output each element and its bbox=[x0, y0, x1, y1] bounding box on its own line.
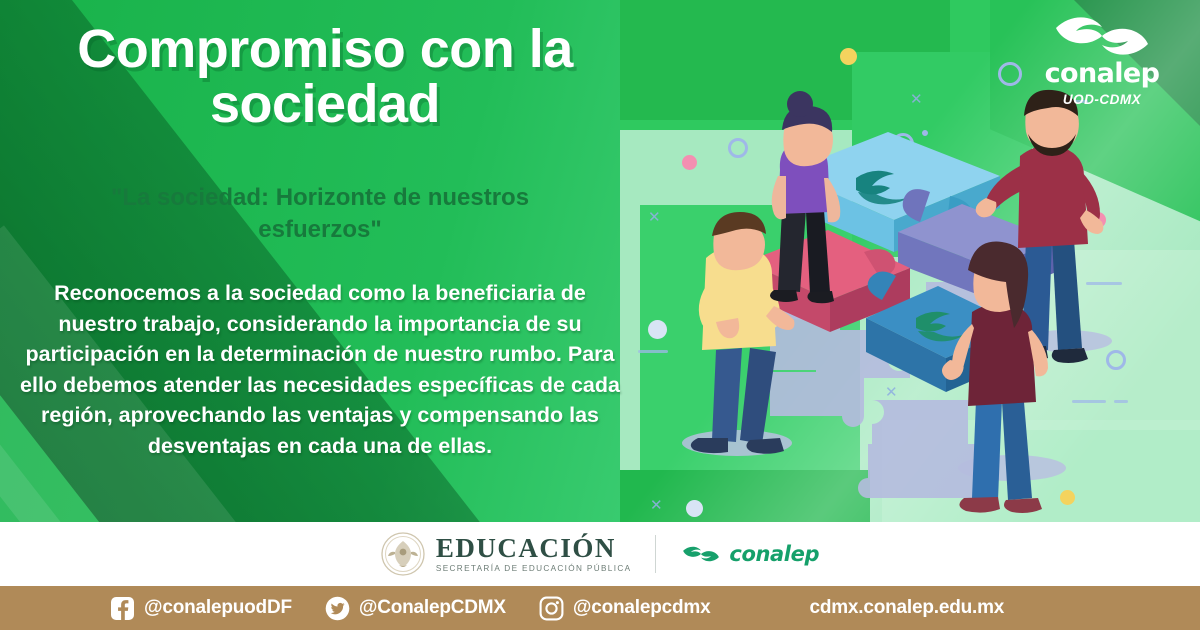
social-links: @conalepuodDF @ConalepCDMX @conalepcdmx … bbox=[110, 596, 1004, 621]
website-url[interactable]: cdmx.conalep.edu.mx bbox=[809, 597, 1004, 619]
twitter-icon[interactable] bbox=[325, 596, 350, 621]
page-body-text: Reconocemos a la sociedad como la benefi… bbox=[18, 278, 622, 461]
facebook-handle[interactable]: @conalepuodDF bbox=[144, 597, 292, 619]
social-footer-bar: @conalepuodDF @ConalepCDMX @conalepcdmx … bbox=[0, 586, 1200, 630]
social-item-twitter[interactable]: @ConalepCDMX bbox=[325, 596, 506, 621]
page-title: Compromiso con la sociedad bbox=[30, 22, 620, 132]
sep-lockup: EDUCACIÓN SECRETARÍA DE EDUCACIÓN PÚBLIC… bbox=[381, 532, 631, 576]
social-item-instagram[interactable]: @conalepcdmx bbox=[539, 596, 711, 621]
instagram-handle[interactable]: @conalepcdmx bbox=[573, 597, 711, 619]
poster-background: ✕ ✕ ✕ ✕ bbox=[0, 0, 1200, 522]
ministry-subtitle: SECRETARÍA DE EDUCACIÓN PÚBLICA bbox=[436, 565, 631, 573]
social-item-facebook[interactable]: @conalepuodDF bbox=[110, 596, 292, 621]
brand-wordmark: conalep bbox=[1022, 60, 1182, 87]
ministry-name: EDUCACIÓN bbox=[436, 535, 631, 562]
mexico-eagle-seal-icon bbox=[381, 532, 425, 576]
brand-unit-label: UOD-CDMX bbox=[1022, 92, 1182, 107]
facebook-icon[interactable] bbox=[110, 596, 135, 621]
conalep-footer-lockup: conalep bbox=[680, 542, 819, 566]
brand-lockup: conalep UOD-CDMX bbox=[1022, 14, 1182, 107]
poster-canvas: ✕ ✕ ✕ ✕ bbox=[0, 0, 1200, 630]
text-column: Compromiso con la sociedad "La sociedad:… bbox=[0, 0, 640, 522]
conalep-footer-wordmark: conalep bbox=[729, 542, 819, 566]
sep-text-block: EDUCACIÓN SECRETARÍA DE EDUCACIÓN PÚBLIC… bbox=[436, 535, 631, 573]
page-subtitle: "La sociedad: Horizonte de nuestros esfu… bbox=[60, 182, 580, 245]
footer-divider bbox=[655, 535, 656, 573]
twitter-handle[interactable]: @ConalepCDMX bbox=[359, 597, 506, 619]
instagram-icon[interactable] bbox=[539, 596, 564, 621]
government-footer: EDUCACIÓN SECRETARÍA DE EDUCACIÓN PÚBLIC… bbox=[0, 522, 1200, 586]
conalep-swoosh-icon bbox=[1048, 14, 1156, 58]
conalep-swoosh-icon bbox=[680, 543, 722, 565]
